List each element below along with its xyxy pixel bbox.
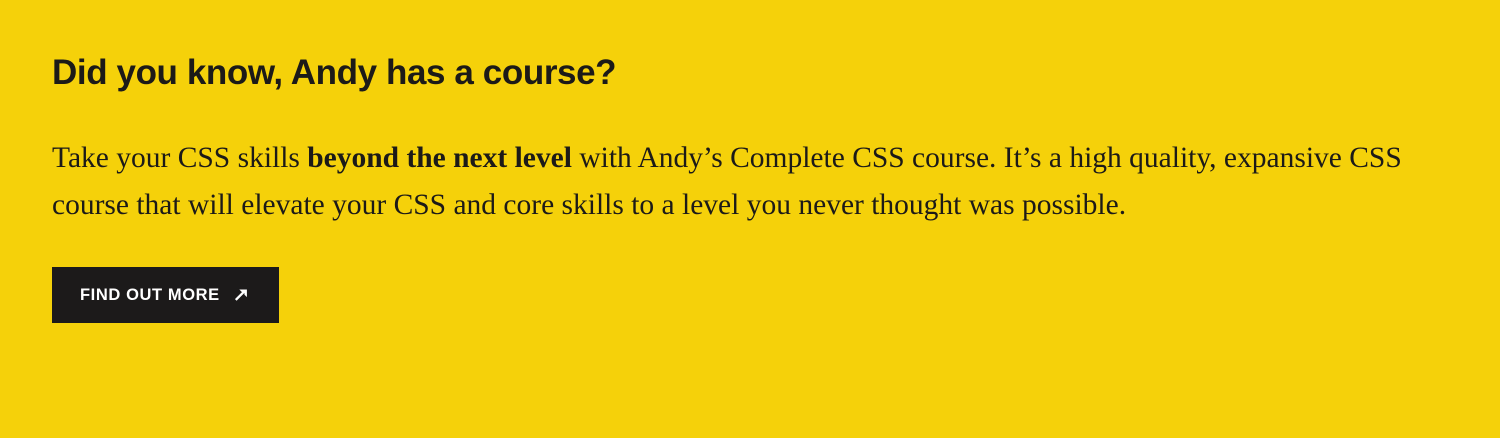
find-out-more-button[interactable]: FIND OUT MORE [52, 267, 279, 323]
promo-description: Take your CSS skills beyond the next lev… [52, 94, 1442, 229]
promo-description-lead: Take your CSS skills [52, 142, 307, 174]
page-title: Did you know, Andy has a course? [52, 52, 1448, 94]
arrow-up-right-icon [233, 286, 251, 304]
course-promo-panel: Did you know, Andy has a course? Take yo… [0, 0, 1500, 438]
cta-row: FIND OUT MORE [52, 229, 1448, 323]
find-out-more-label: FIND OUT MORE [80, 286, 220, 305]
promo-description-emphasis: beyond the next level [307, 142, 572, 174]
